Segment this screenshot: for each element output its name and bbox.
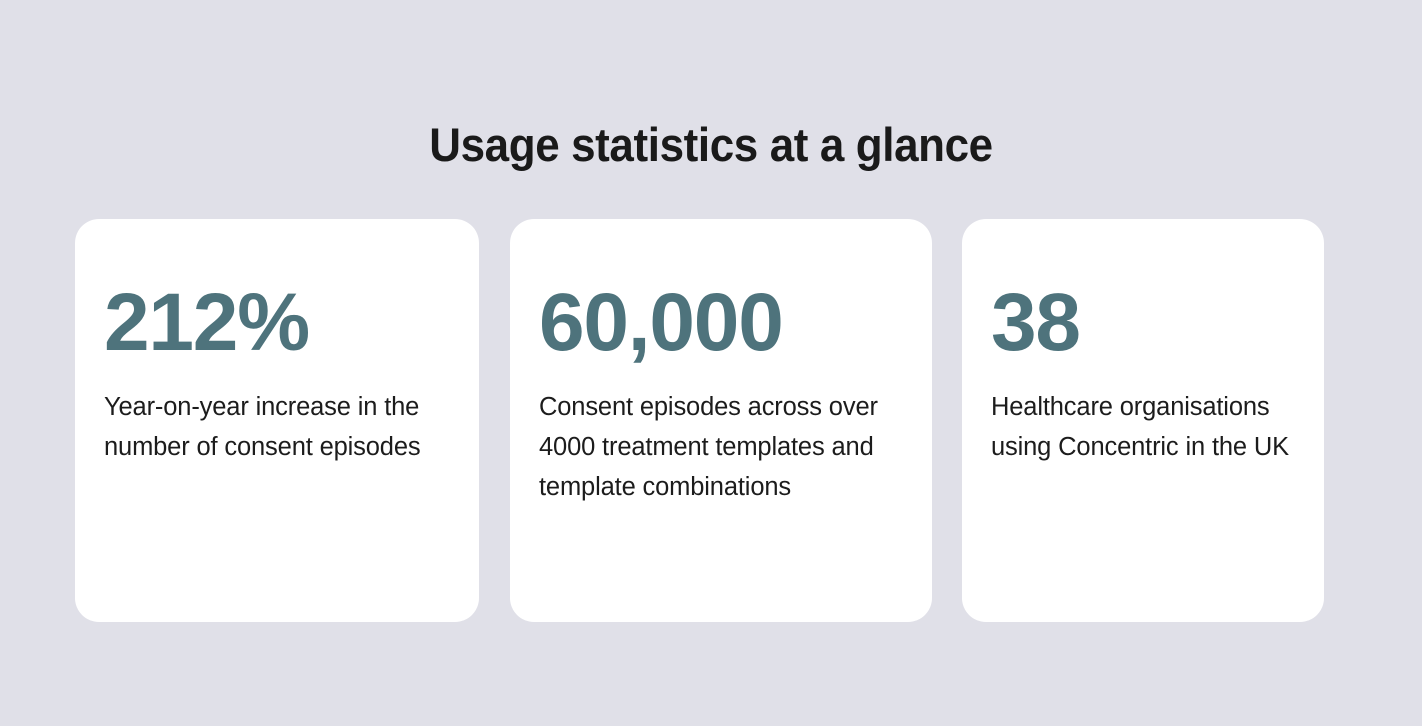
stat-card-year-on-year-increase: 212% Year-on-year increase in the number… [75,219,479,622]
statistics-slide: Usage statistics at a glance 212% Year-o… [0,0,1422,726]
page-title: Usage statistics at a glance [46,115,1376,175]
stat-value: 60,000 [539,281,904,365]
stat-description: Healthcare organisations using Concentri… [991,365,1296,467]
stat-value: 38 [991,281,1296,365]
stat-card-consent-episodes: 60,000 Consent episodes across over 4000… [510,219,932,622]
stat-card-group: 212% Year-on-year increase in the number… [75,219,1324,622]
stat-card-healthcare-organisations: 38 Healthcare organisations using Concen… [962,219,1324,622]
stat-description: Consent episodes across over 4000 treatm… [539,365,904,507]
stat-description: Year-on-year increase in the number of c… [104,365,449,467]
stat-value: 212% [104,281,451,365]
